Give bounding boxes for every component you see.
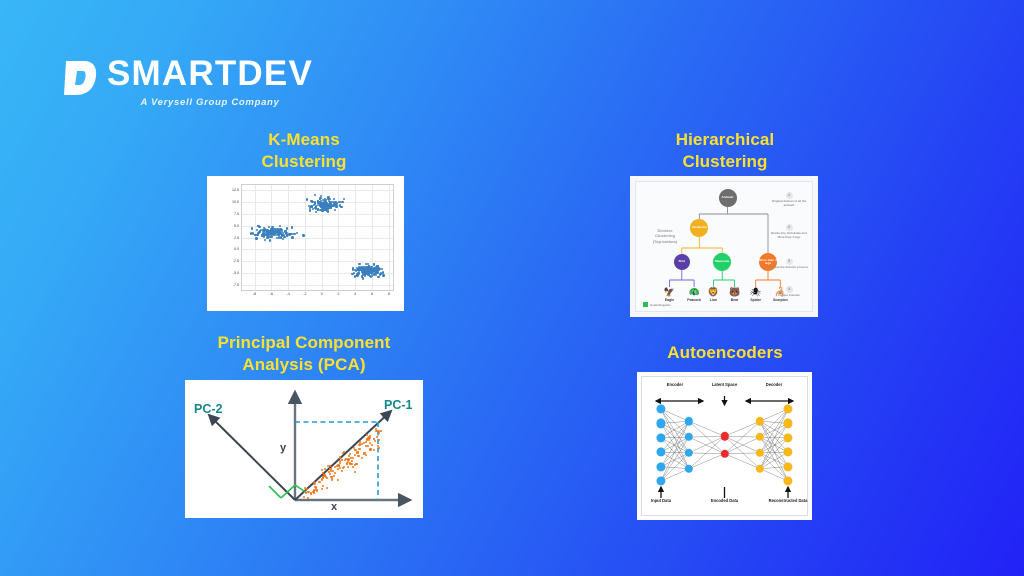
brand-logo: SMARTDEV A Verysell Group Company <box>64 56 313 108</box>
scatter-point <box>334 209 336 211</box>
pc2-label: PC-2 <box>194 402 222 416</box>
step-text: Original dataset of all the animals <box>769 200 809 207</box>
gridline-vertical <box>389 185 390 290</box>
pca-scatter-point <box>306 488 308 490</box>
title-line-2: Analysis (PCA) <box>168 354 440 376</box>
pca-scatter-point <box>346 462 348 464</box>
tree-leaf: 🐻Bear <box>729 287 740 302</box>
autoencoder-top-label: Encoder <box>658 383 692 388</box>
tree-leaf: 🦚Peacock <box>687 287 701 302</box>
pca-scatter-point <box>377 445 379 447</box>
x-axis-label: x <box>331 501 337 513</box>
pca-scatter-point <box>347 466 349 468</box>
tree-leaf-label: Spider <box>750 298 761 302</box>
tree-node: Animals <box>719 189 737 207</box>
pca-scatter-point <box>378 447 380 449</box>
kmeans-chart-panel: 12.510.07.55.02.50.0-2.5-5.0-7.5-8-6-4-2… <box>207 176 404 311</box>
scatter-point <box>373 263 375 265</box>
title-line-2: Clustering <box>620 151 830 173</box>
title-line-2: Clustering <box>180 151 428 173</box>
pca-scatter-point <box>352 457 354 459</box>
tree-node: Mammals <box>713 253 731 271</box>
y-axis-tick: 5.0 <box>234 224 239 228</box>
scatter-point <box>338 201 340 203</box>
tree-leaf-label: Scorpion <box>773 298 788 302</box>
scatter-point <box>324 203 326 205</box>
autoencoder-top-label: Latent Space <box>708 383 742 388</box>
autoencoder-bottom-label: Encoded Data <box>702 499 748 504</box>
eagle-icon: 🦅 <box>664 287 675 297</box>
gridline-horizontal <box>242 249 393 250</box>
x-axis-tick: 0 <box>321 292 323 296</box>
pca-scatter-point <box>308 491 310 493</box>
x-axis-tick: -4 <box>287 292 290 296</box>
autoencoder-diagram: EncoderLatent SpaceDecoderInput DataEnco… <box>637 372 812 520</box>
scatter-point <box>291 236 293 238</box>
y-axis-tick: 7.5 <box>234 212 239 216</box>
step-number: 3 <box>786 258 793 265</box>
x-axis-tick: 6 <box>371 292 373 296</box>
pca-scatter-point <box>349 462 351 464</box>
pca-scatter-point <box>350 463 352 465</box>
y-axis-tick: 2.5 <box>234 236 239 240</box>
scatter-point <box>267 230 269 232</box>
y-axis-tick: 10.0 <box>232 200 239 204</box>
pca-scatter-point <box>347 458 349 460</box>
scatter-point <box>269 239 271 241</box>
step-text: Repeat the division process <box>769 266 809 270</box>
pca-scatter-point <box>337 464 339 466</box>
scatter-point <box>335 205 337 207</box>
step-number: 4 <box>786 286 793 293</box>
scatter-point <box>319 203 321 205</box>
section-title-pca: Principal Component Analysis (PCA) <box>168 332 440 376</box>
pca-scatter-point <box>321 478 323 480</box>
scatter-point <box>327 210 329 212</box>
pca-scatter-point <box>380 430 382 432</box>
x-axis-tick: 8 <box>388 292 390 296</box>
scatter-point <box>362 277 364 279</box>
tree-leaf: 🕷Spider <box>750 287 761 302</box>
y-axis-tick: -2.5 <box>233 259 239 263</box>
scatter-point <box>327 196 329 198</box>
scatter-point <box>358 263 360 265</box>
y-axis-tick: 12.5 <box>232 188 239 192</box>
spider-icon: 🕷 <box>750 287 761 297</box>
pca-scatter-point <box>330 468 332 470</box>
step-number: 1 <box>786 192 793 199</box>
brand-tagline: A Verysell Group Company <box>107 97 313 108</box>
scatter-point <box>377 276 379 278</box>
scatter-point <box>263 229 265 231</box>
scatter-point <box>302 234 304 236</box>
pca-scatter-point <box>314 486 316 488</box>
pca-diagram: PC-2 PC-1 y x <box>185 380 423 518</box>
scatter-point <box>343 198 345 200</box>
gridline-horizontal <box>242 261 393 262</box>
scatter-point <box>380 272 382 274</box>
pca-scatter-point <box>313 492 315 494</box>
scatter-point <box>255 237 257 239</box>
pca-scatter-point <box>325 476 327 478</box>
y-axis-tick: -5.0 <box>233 271 239 275</box>
autoencoder-top-label: Decoder <box>757 383 791 388</box>
scatter-point <box>382 274 384 276</box>
section-title-autoencoders: Autoencoders <box>620 342 830 364</box>
gridline-horizontal <box>242 214 393 215</box>
title-line-1: Autoencoders <box>620 342 830 364</box>
tree-leaf-label: Bear <box>729 298 740 302</box>
autoencoder-canvas: EncoderLatent SpaceDecoderInput DataEnco… <box>641 376 808 516</box>
scatter-point <box>251 227 253 229</box>
scatter-point <box>291 226 293 228</box>
hierarchical-canvas: Divisive Clustering (Top-bottom) Geeksfo… <box>635 181 813 312</box>
slide-root: SMARTDEV A Verysell Group Company K-Mean… <box>0 0 1024 576</box>
gridline-horizontal <box>242 190 393 191</box>
tree-leaf-label: Lion <box>708 298 719 302</box>
pca-scatter-point <box>378 432 380 434</box>
peacock-icon: 🦚 <box>687 287 701 297</box>
lion-icon: 🦁 <box>708 287 719 297</box>
step-text: Unique Animals <box>769 294 809 298</box>
scatter-point <box>317 200 319 202</box>
scatter-point <box>375 270 377 272</box>
tree-leaf-label: Eagle <box>664 298 675 302</box>
y-axis-tick: 0.0 <box>234 247 239 251</box>
scatter-point <box>258 231 260 233</box>
title-line-1: Hierarchical <box>620 129 830 151</box>
pca-scatter-point <box>359 441 361 443</box>
gridline-vertical <box>288 185 289 290</box>
kmeans-scatter-plot: 12.510.07.55.02.50.0-2.5-5.0-7.5-8-6-4-2… <box>207 176 404 311</box>
scatter-point <box>356 274 358 276</box>
scatter-point <box>341 201 343 203</box>
pca-diagram-panel: PC-2 PC-1 y x <box>185 380 423 518</box>
scatter-point <box>314 194 316 196</box>
scatter-point <box>364 269 366 271</box>
pca-scatter-point <box>359 443 361 445</box>
pca-scatter-point <box>365 454 367 456</box>
scatter-point <box>315 211 317 213</box>
tree-node: Bird <box>674 254 690 270</box>
gridline-horizontal <box>242 285 393 286</box>
autoencoder-bottom-label: Input Data <box>638 499 684 504</box>
pca-scatter-point <box>322 476 324 478</box>
scatter-point <box>279 225 281 227</box>
scatter-point <box>333 198 335 200</box>
scatter-point <box>310 200 312 202</box>
scatter-point <box>272 228 274 230</box>
scatter-point <box>330 207 332 209</box>
pca-scatter-point <box>310 493 312 495</box>
y-axis-tick: -7.5 <box>233 283 239 287</box>
smartdev-d-mark-icon <box>64 59 98 97</box>
x-axis-tick: 2 <box>337 292 339 296</box>
tree-leaf: 🦅Eagle <box>664 287 675 302</box>
pca-scatter-point <box>365 441 367 443</box>
scatter-point <box>340 206 342 208</box>
tree-leaf-label: Peacock <box>687 298 701 302</box>
pca-scatter-point <box>321 488 323 490</box>
scatter-point <box>257 225 259 227</box>
scatter-point <box>274 228 276 230</box>
scatter-point <box>382 271 384 273</box>
scatter-point <box>361 270 363 272</box>
pc1-label: PC-1 <box>384 398 412 412</box>
section-title-hierarchical: Hierarchical Clustering <box>620 129 830 173</box>
scatter-point <box>284 230 286 232</box>
title-line-1: K-Means <box>180 129 428 151</box>
hierarchical-diagram-panel: Divisive Clustering (Top-bottom) Geeksfo… <box>630 176 818 317</box>
scatter-point <box>282 238 284 240</box>
scatter-point <box>309 209 311 211</box>
pca-scatter-point <box>355 463 357 465</box>
pca-scatter-point <box>341 470 343 472</box>
scatter-point <box>262 235 264 237</box>
pca-scatter-point <box>373 449 375 451</box>
autoencoder-diagram-panel: EncoderLatent SpaceDecoderInput DataEnco… <box>637 372 812 520</box>
title-line-1: Principal Component <box>168 332 440 354</box>
pca-scatter-point <box>331 479 333 481</box>
brand-text: SMARTDEV A Verysell Group Company <box>107 56 313 108</box>
network-edges <box>642 377 807 515</box>
process-step: 3Repeat the division process <box>769 258 809 270</box>
scatter-point <box>317 208 319 210</box>
tree-leaf: 🦁Lion <box>708 287 719 302</box>
pca-scatter-point <box>369 448 371 450</box>
scatter-point <box>366 273 368 275</box>
pca-scatter-point <box>322 485 324 487</box>
x-axis-tick: 4 <box>354 292 356 296</box>
bear-icon: 🐻 <box>729 287 740 297</box>
scatter-point <box>357 272 359 274</box>
pca-scatter-point <box>371 444 373 446</box>
tree-node: Vertebrate <box>690 219 708 237</box>
gridline-vertical <box>305 185 306 290</box>
step-text: Divide into Vertebrate and More than 4 l… <box>769 232 809 239</box>
scatter-point <box>296 232 298 234</box>
x-axis-tick: -8 <box>253 292 256 296</box>
x-axis-tick: -6 <box>270 292 273 296</box>
x-axis-tick: -2 <box>303 292 306 296</box>
brand-name: SMARTDEV <box>107 56 313 92</box>
autoencoder-bottom-label: Reconstructed Data <box>765 499 811 504</box>
pca-scatter-point <box>333 475 335 477</box>
scatter-point <box>381 268 383 270</box>
section-title-kmeans: K-Means Clustering <box>180 129 428 173</box>
process-step: 1Original dataset of all the animals <box>769 192 809 207</box>
y-axis-label: y <box>280 442 286 454</box>
step-number: 2 <box>786 224 793 231</box>
pca-scatter-point <box>324 468 326 470</box>
process-step: 4Unique Animals <box>769 286 809 298</box>
pca-scatter-point <box>334 472 336 474</box>
hierarchical-tree: Divisive Clustering (Top-bottom) Geeksfo… <box>630 176 818 317</box>
scatter-point <box>281 230 283 232</box>
scatter-point <box>306 198 308 200</box>
process-step: 2Divide into Vertebrate and More than 4 … <box>769 224 809 239</box>
kmeans-plot-area: 12.510.07.55.02.50.0-2.5-5.0-7.5-8-6-4-2… <box>241 184 394 291</box>
pca-scatter-point <box>305 492 307 494</box>
